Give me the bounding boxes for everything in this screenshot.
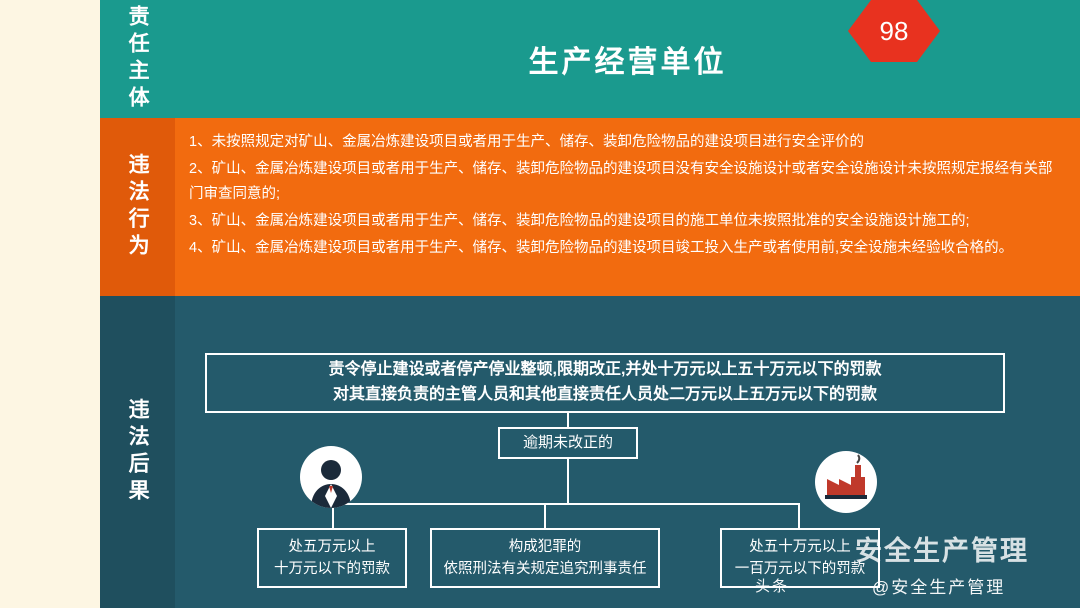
- connector-drop-2: [544, 503, 546, 528]
- subject-title: 生产经营单位: [175, 0, 1080, 118]
- row-label-illegal-acts: 违法行为: [100, 118, 175, 296]
- list-item: 2、矿山、金属冶炼建设项目或者用于生产、储存、装卸危险物品的建设项目没有安全设施…: [189, 157, 1062, 207]
- list-item: 1、未按照规定对矿山、金属冶炼建设项目或者用于生产、储存、装卸危险物品的建设项目…: [189, 130, 1062, 155]
- node-outcome-3: 处五十万元以上 一百万元以下的罚款: [720, 528, 880, 588]
- list-item: 3、矿山、金属冶炼建设项目或者用于生产、储存、装卸危险物品的建设项目的施工单位未…: [189, 209, 1062, 234]
- node-outcome-3-line1: 处五十万元以上: [735, 536, 866, 558]
- row-label-consequences: 违法后果: [100, 296, 175, 608]
- illegal-acts-list: 1、未按照规定对矿山、金属冶炼建设项目或者用于生产、储存、装卸危险物品的建设项目…: [175, 118, 1080, 296]
- node-outcome-1: 处五万元以上 十万元以下的罚款: [257, 528, 407, 588]
- list-item: 4、矿山、金属冶炼建设项目或者用于生产、储存、装卸危险物品的建设项目竣工投入生产…: [189, 236, 1062, 261]
- band-illegal-acts: 1、未按照规定对矿山、金属冶炼建设项目或者用于生产、储存、装卸危险物品的建设项目…: [175, 118, 1080, 296]
- node-outcome-2: 构成犯罪的 依照刑法有关规定追究刑事责任: [430, 528, 660, 588]
- band-subject: 生产经营单位: [175, 0, 1080, 118]
- connector-main-to-overdue: [567, 413, 569, 427]
- node-outcome-1-line2: 十万元以下的罚款: [274, 558, 390, 580]
- node-outcome-2-line1: 构成犯罪的: [444, 536, 647, 558]
- slide-page: 责任主体 生产经营单位 违法行为 1、未按照规定对矿山、金属冶炼建设项目或者用于…: [0, 0, 1080, 608]
- node-outcome-1-line1: 处五万元以上: [274, 536, 390, 558]
- node-main-line2: 对其直接负责的主管人员和其他直接责任人员处二万元以上五万元以下的罚款: [329, 383, 882, 408]
- connector-overdue-down: [567, 459, 569, 504]
- connector-drop-3: [798, 503, 800, 528]
- node-overdue: 逾期未改正的: [498, 427, 638, 459]
- consequence-diagram: 责令停止建设或者停产停业整顿,限期改正,并处十万元以上五十万元以下的罚款 对其直…: [175, 296, 1080, 608]
- node-main-line1: 责令停止建设或者停产停业整顿,限期改正,并处十万元以上五十万元以下的罚款: [329, 358, 882, 383]
- node-main-penalty: 责令停止建设或者停产停业整顿,限期改正,并处十万元以上五十万元以下的罚款 对其直…: [205, 353, 1005, 413]
- band-consequences: 责令停止建设或者停产停业整顿,限期改正,并处十万元以上五十万元以下的罚款 对其直…: [175, 296, 1080, 608]
- factory-icon: [815, 451, 877, 513]
- person-icon: [300, 446, 362, 508]
- node-outcome-2-line2: 依照刑法有关规定追究刑事责任: [444, 558, 647, 580]
- connector-spine: [332, 503, 800, 505]
- node-outcome-3-line2: 一百万元以下的罚款: [735, 558, 866, 580]
- left-margin-strip: [0, 0, 100, 608]
- row-label-subject: 责任主体: [100, 0, 175, 118]
